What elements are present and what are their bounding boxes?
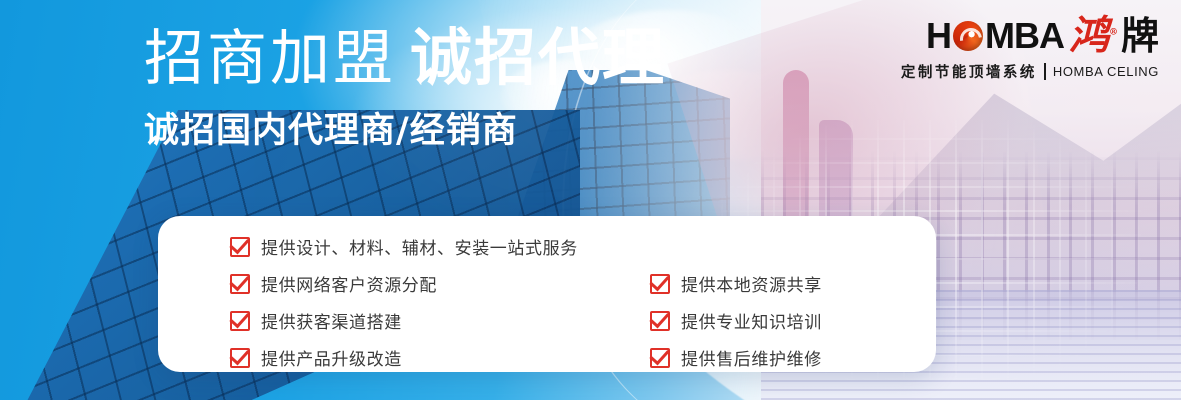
headline-light-part: 招商加盟	[144, 24, 396, 94]
subheadline: 诚招国内代理商/经销商	[144, 102, 666, 153]
feature-card: 提供设计、材料、辅材、安装一站式服务 提供网络客户资源分配 提供获客渠道搭建 提…	[158, 216, 936, 372]
feature-column-left: 提供设计、材料、辅材、安装一站式服务 提供网络客户资源分配 提供获客渠道搭建 提…	[230, 228, 578, 376]
logo-brush-character: 鸿®	[1069, 18, 1118, 54]
headline-block: 招商加盟诚招代理 诚招国内代理商/经销商	[144, 26, 666, 153]
checkbox-checked-icon	[230, 274, 250, 294]
checkbox-checked-icon	[650, 348, 670, 368]
feature-column-right: 提供本地资源共享 提供专业知识培训 提供售后维护维修	[650, 265, 822, 376]
feature-item: 提供设计、材料、辅材、安装一站式服务	[230, 228, 578, 265]
logo-tagline: 定制节能顶墙系统 HOMBA CELING	[901, 61, 1159, 82]
feature-label: 提供网络客户资源分配	[261, 271, 437, 296]
logo-tagline-divider	[1044, 63, 1046, 80]
logo-wordmark: H MBA 鸿® 牌	[901, 18, 1159, 54]
registered-mark: ®	[1109, 28, 1118, 38]
logo-tagline-cn: 定制节能顶墙系统	[901, 61, 1037, 82]
headline-row: 招商加盟诚招代理	[144, 26, 666, 90]
logo-latin-right: MBA	[985, 18, 1064, 54]
promo-banner: H MBA 鸿® 牌 定制节能顶墙系统 HOMBA CELING 招商加盟诚招代…	[0, 0, 1181, 400]
checkbox-checked-icon	[230, 311, 250, 331]
feature-item: 提供专业知识培训	[650, 302, 822, 339]
feature-item: 提供售后维护维修	[650, 339, 822, 376]
feature-item: 提供产品升级改造	[230, 339, 578, 376]
feature-label: 提供本地资源共享	[681, 271, 822, 296]
feature-item: 提供获客渠道搭建	[230, 302, 578, 339]
checkbox-checked-icon	[230, 348, 250, 368]
logo-brush-glyph: 鸿	[1069, 12, 1109, 59]
feature-item: 提供网络客户资源分配	[230, 265, 578, 302]
feature-label: 提供售后维护维修	[681, 345, 822, 370]
feature-label: 提供设计、材料、辅材、安装一站式服务	[261, 234, 578, 259]
feature-label: 提供专业知识培训	[681, 308, 822, 333]
feature-label: 提供获客渠道搭建	[261, 308, 402, 333]
flame-swirl-icon	[953, 21, 983, 51]
feature-columns: 提供设计、材料、辅材、安装一站式服务 提供网络客户资源分配 提供获客渠道搭建 提…	[158, 216, 936, 372]
headline-bold-part: 诚招代理	[410, 21, 666, 94]
feature-item: 提供本地资源共享	[650, 265, 822, 302]
logo-tagline-en: HOMBA CELING	[1053, 64, 1159, 79]
logo-dark-character: 牌	[1121, 18, 1159, 54]
checkbox-checked-icon	[230, 237, 250, 257]
checkbox-checked-icon	[650, 311, 670, 331]
feature-label: 提供产品升级改造	[261, 345, 402, 370]
brand-logo: H MBA 鸿® 牌 定制节能顶墙系统 HOMBA CELING	[901, 18, 1159, 82]
logo-latin-left: H	[926, 18, 951, 54]
checkbox-checked-icon	[650, 274, 670, 294]
